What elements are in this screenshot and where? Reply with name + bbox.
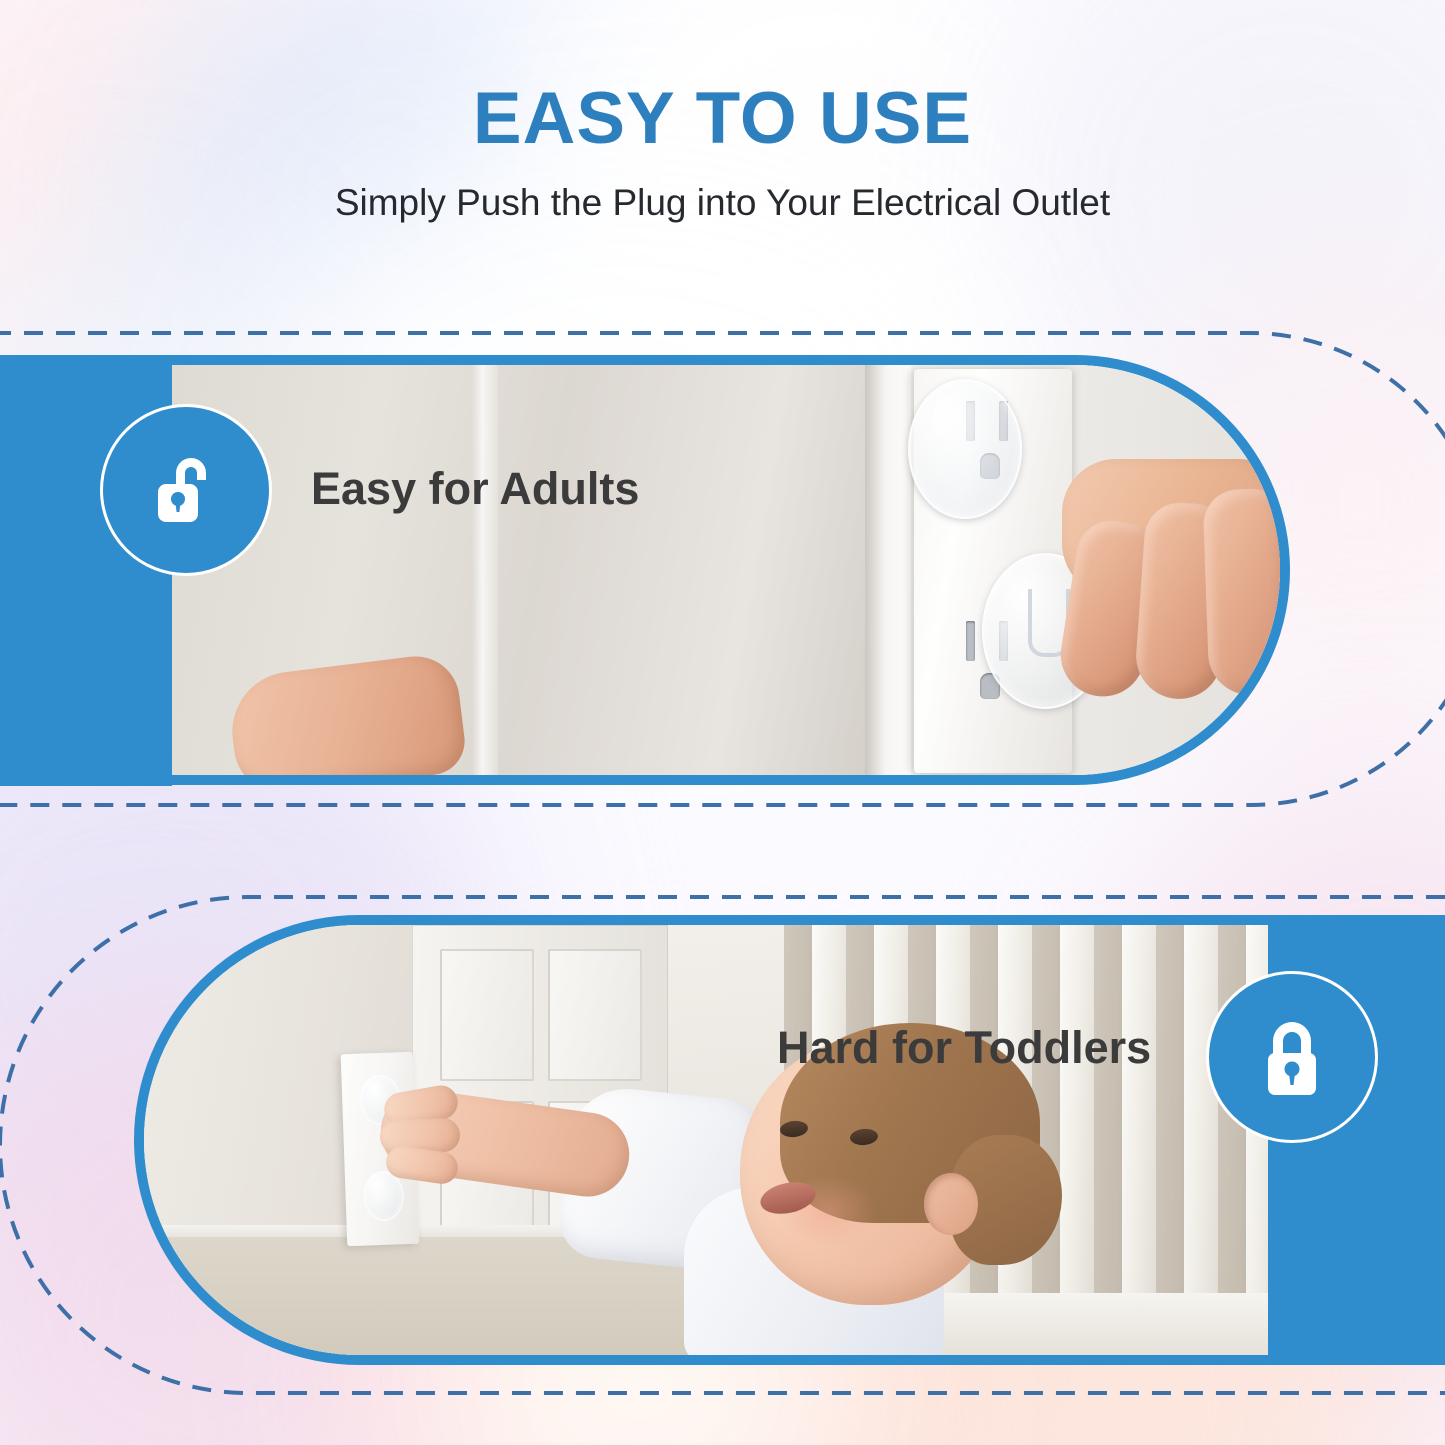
page-title: EASY TO USE [0, 0, 1445, 155]
finger [1202, 488, 1280, 697]
crib-slat [1060, 925, 1094, 1293]
toddler-hand [370, 1075, 494, 1193]
crib-slat [1122, 925, 1156, 1293]
panel-1-image-frame [172, 355, 1290, 785]
header: EASY TO USE Simply Push the Plug into Yo… [0, 0, 1445, 224]
door-panel [440, 949, 534, 1081]
panel-easy-for-adults: Easy for Adults [0, 331, 1445, 807]
lock-icon [1244, 1009, 1340, 1105]
unlock-icon [138, 442, 234, 538]
wall-seam [472, 365, 498, 775]
wall-corner [865, 365, 911, 775]
panel-2-label: Hard for Toddlers [777, 1022, 1151, 1074]
adult-hand [1056, 425, 1280, 775]
crib-gap [1094, 925, 1122, 1293]
panel-2-image-frame [134, 915, 1274, 1365]
panel-hard-for-toddlers: Hard for Toddlers [0, 895, 1445, 1395]
installed-plug-cover [908, 379, 1022, 519]
door-panel [548, 949, 642, 1081]
toddler-ear [924, 1173, 978, 1235]
panel-1-label: Easy for Adults [311, 463, 639, 515]
toddler-photo [144, 925, 1274, 1355]
crib-slat [1184, 925, 1218, 1293]
socket-slot [966, 621, 975, 661]
lock-badge [1206, 971, 1378, 1143]
page-subtitle: Simply Push the Plug into Your Electrica… [0, 155, 1445, 224]
unlock-badge [100, 404, 272, 576]
outlet-photo [172, 365, 1280, 775]
crib-gap [1156, 925, 1184, 1293]
